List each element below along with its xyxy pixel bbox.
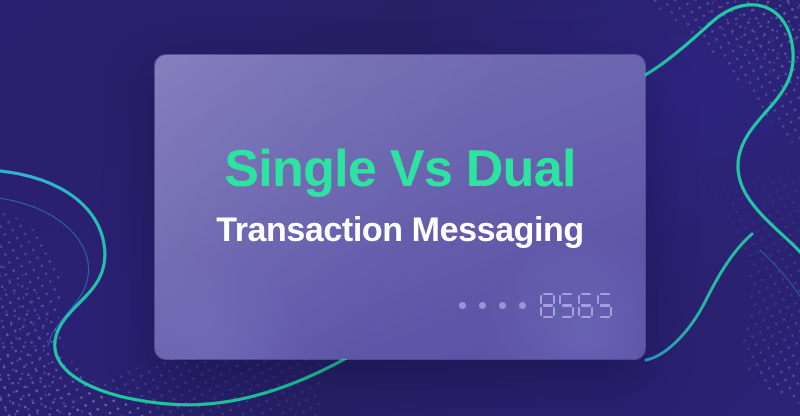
card-digit-segment bbox=[543, 293, 553, 295]
card-digit-segment bbox=[562, 293, 572, 295]
visible-card-digits bbox=[540, 293, 612, 318]
masked-digit-dot bbox=[499, 302, 506, 309]
card-digit-segment bbox=[553, 295, 555, 304]
card-digit-segment bbox=[562, 316, 572, 318]
card-digit-segment bbox=[540, 295, 542, 304]
credit-card-panel: Single Vs Dual Transaction Messaging bbox=[155, 55, 645, 359]
card-digit-segment bbox=[600, 316, 610, 318]
card-digit bbox=[597, 293, 612, 318]
card-digit bbox=[578, 293, 593, 318]
card-digit-segment bbox=[597, 295, 599, 304]
card-digit-segment bbox=[578, 307, 580, 316]
card-digit-segment bbox=[543, 316, 553, 318]
promo-banner: Single Vs Dual Transaction Messaging bbox=[0, 0, 800, 416]
card-digit-segment bbox=[610, 307, 612, 316]
card-digit-segment bbox=[581, 304, 591, 306]
card-digit-segment bbox=[543, 304, 553, 306]
card-digit-segment bbox=[578, 295, 580, 304]
card-digit bbox=[540, 293, 555, 318]
teal-wave-line-right-lower bbox=[646, 234, 752, 360]
masked-digit-dot bbox=[519, 302, 526, 309]
card-digit-segment bbox=[572, 307, 574, 316]
card-subtitle: Transaction Messaging bbox=[155, 210, 645, 250]
card-digit-segment bbox=[581, 293, 591, 295]
teal-wave-line-accent-2 bbox=[760, 250, 800, 330]
card-digit-segment bbox=[553, 307, 555, 316]
teal-wave-line-accent bbox=[0, 196, 89, 346]
card-digit-segment bbox=[562, 304, 572, 306]
masked-digit-dot bbox=[459, 302, 466, 309]
card-digit-segment bbox=[600, 293, 610, 295]
card-digit bbox=[559, 293, 574, 318]
masked-digits-group bbox=[459, 302, 526, 309]
card-digit-segment bbox=[600, 304, 610, 306]
masked-digit-dot bbox=[479, 302, 486, 309]
card-digit-segment bbox=[559, 295, 561, 304]
card-digit-segment bbox=[540, 307, 542, 316]
dotted-mesh-bottom-right bbox=[690, 170, 800, 410]
card-title: Single Vs Dual bbox=[155, 141, 645, 197]
card-digit-segment bbox=[591, 307, 593, 316]
card-digit-segment bbox=[581, 316, 591, 318]
card-content: Single Vs Dual Transaction Messaging bbox=[155, 55, 645, 359]
card-number-row bbox=[459, 293, 612, 318]
